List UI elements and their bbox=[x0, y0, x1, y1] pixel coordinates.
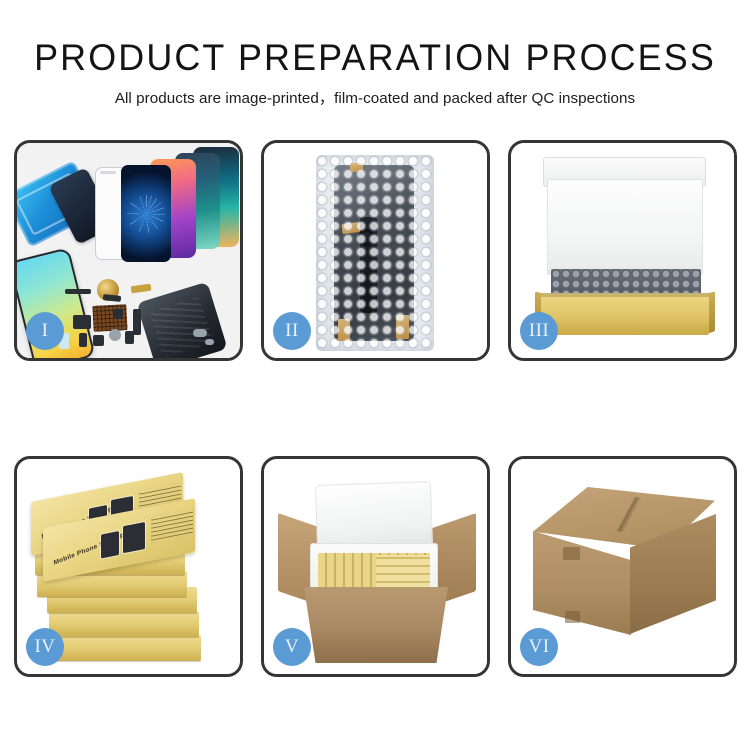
step-badge-2: II bbox=[273, 312, 311, 350]
step-badge-3: III bbox=[520, 312, 558, 350]
step-panel-4: Mobile Phone Spare Parts Mobile Phone Sp… bbox=[14, 456, 243, 677]
foam-lid-graphic bbox=[315, 481, 433, 551]
header: PRODUCT PREPARATION PROCESS All products… bbox=[0, 36, 750, 109]
component-graphic bbox=[109, 329, 121, 341]
step-panel-3: III bbox=[508, 140, 737, 361]
step-panel-2: II bbox=[261, 140, 490, 361]
step-panel-1: I bbox=[14, 140, 243, 361]
tape-piece-graphic bbox=[350, 163, 363, 172]
page-title: PRODUCT PREPARATION PROCESS bbox=[11, 36, 739, 80]
carton-tape-graphic bbox=[565, 611, 580, 623]
component-graphic bbox=[93, 335, 104, 346]
phone-back-cover-graphic bbox=[136, 282, 227, 358]
foam-sheet-graphic bbox=[547, 179, 703, 275]
component-graphic bbox=[131, 284, 152, 294]
stacked-box-graphic bbox=[49, 611, 199, 637]
flex-cable-graphic bbox=[133, 309, 141, 335]
tape-piece-graphic bbox=[396, 315, 409, 339]
component-graphic bbox=[113, 309, 123, 319]
process-step-grid: I II bbox=[14, 140, 736, 677]
camera-ring-graphic bbox=[358, 229, 375, 246]
step-badge-5: V bbox=[273, 628, 311, 666]
screw-graphic bbox=[193, 329, 207, 337]
carton-tape-graphic bbox=[563, 547, 580, 560]
step-badge-4: IV bbox=[26, 628, 64, 666]
product-window-graphic bbox=[123, 522, 145, 553]
product-preparation-infographic: PRODUCT PREPARATION PROCESS All products… bbox=[0, 0, 750, 750]
carton-left-face-graphic bbox=[533, 531, 631, 635]
step-badge-1: I bbox=[26, 312, 64, 350]
step-panel-5: V bbox=[261, 456, 490, 677]
product-window-graphic bbox=[101, 531, 119, 558]
carton-body-graphic bbox=[304, 587, 448, 663]
page-subtitle: All products are image-printed，film-coat… bbox=[0, 89, 750, 109]
component-graphic bbox=[73, 315, 91, 329]
step-panel-6: VI bbox=[508, 456, 737, 677]
component-graphic bbox=[65, 289, 91, 294]
box-spec-lines-graphic bbox=[151, 509, 193, 541]
blue-fractal-screen-graphic bbox=[121, 165, 171, 262]
tape-piece-graphic bbox=[338, 319, 350, 341]
box-front-panel-graphic bbox=[541, 293, 709, 335]
step-badge-6: VI bbox=[520, 628, 558, 666]
stacked-box-graphic bbox=[51, 635, 201, 661]
screw-graphic bbox=[205, 339, 214, 345]
component-graphic bbox=[79, 333, 87, 347]
